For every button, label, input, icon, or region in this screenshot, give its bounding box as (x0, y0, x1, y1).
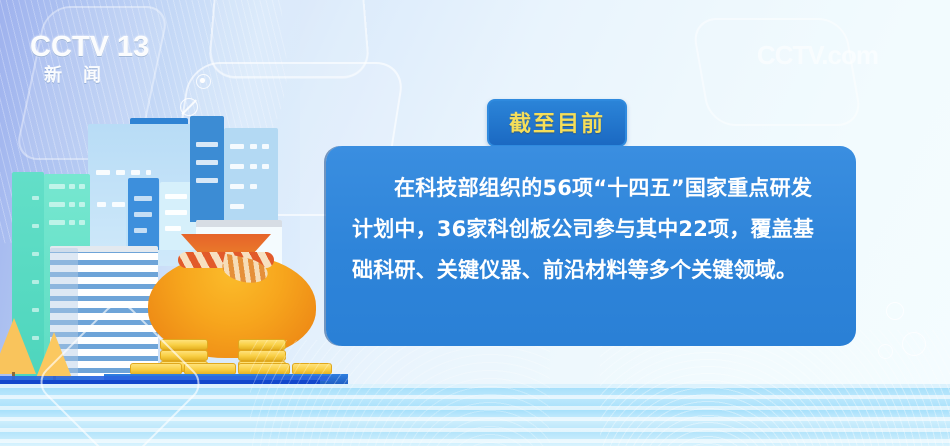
window (32, 280, 39, 284)
window (165, 226, 181, 231)
hexagon-outline-2 (207, 0, 371, 78)
building-tall-teal (190, 116, 224, 222)
window (79, 220, 85, 225)
window (112, 202, 125, 207)
moire-pattern-bottom-right (600, 330, 950, 446)
window (97, 202, 106, 207)
window (69, 220, 75, 225)
window (134, 212, 152, 217)
window (196, 160, 218, 165)
window (134, 196, 152, 201)
cctv-watermark: CCTV.com (757, 40, 878, 71)
window (250, 144, 257, 149)
window (116, 170, 125, 175)
window (69, 202, 75, 207)
hexagon-outline-4 (690, 18, 863, 126)
tv-news-graphic: CCTV 13 新 闻 CCTV.com 截至目前 在科技部组织的56项“十四五… (0, 0, 950, 446)
info-card-body: 在科技部组织的56项“十四五”国家重点研发计划中，36家科创板公司参与其中22项… (326, 146, 856, 291)
window (134, 228, 147, 233)
building-white-low-cap (196, 220, 282, 227)
window (131, 170, 140, 175)
window (230, 204, 244, 209)
node-circle-icon (180, 98, 198, 116)
info-card: 在科技部组织的56项“十四五”国家重点研发计划中，36家科创板公司参与其中22项… (326, 146, 856, 346)
window (96, 170, 110, 175)
window (49, 220, 65, 225)
moire-pattern-bottom-mid (250, 340, 550, 446)
window (32, 224, 39, 228)
window (79, 202, 85, 207)
window (32, 308, 39, 312)
window (165, 194, 187, 199)
window (196, 178, 218, 183)
window (49, 184, 65, 189)
window (262, 164, 269, 169)
window (230, 144, 244, 149)
window (49, 202, 65, 207)
tree-left (0, 318, 36, 374)
window (230, 164, 244, 169)
bubble-circle-icon (886, 302, 904, 320)
window (79, 184, 85, 189)
window (146, 170, 151, 175)
building-pale-right (224, 128, 278, 226)
window (32, 252, 39, 256)
window (165, 210, 187, 215)
window (196, 142, 218, 147)
window (230, 184, 244, 189)
status-badge-label: 截至目前 (509, 106, 605, 138)
node-circle-icon (196, 74, 211, 89)
window (69, 184, 75, 189)
cctv-logo-sub: 新 闻 (44, 65, 140, 85)
cctv-logo: CCTV 13 新 闻 (30, 32, 140, 88)
window (32, 196, 39, 200)
window (250, 184, 257, 189)
status-badge: 截至目前 (487, 99, 627, 147)
window (262, 144, 269, 149)
window (250, 164, 257, 169)
cctv-logo-main: CCTV 13 (30, 32, 140, 62)
